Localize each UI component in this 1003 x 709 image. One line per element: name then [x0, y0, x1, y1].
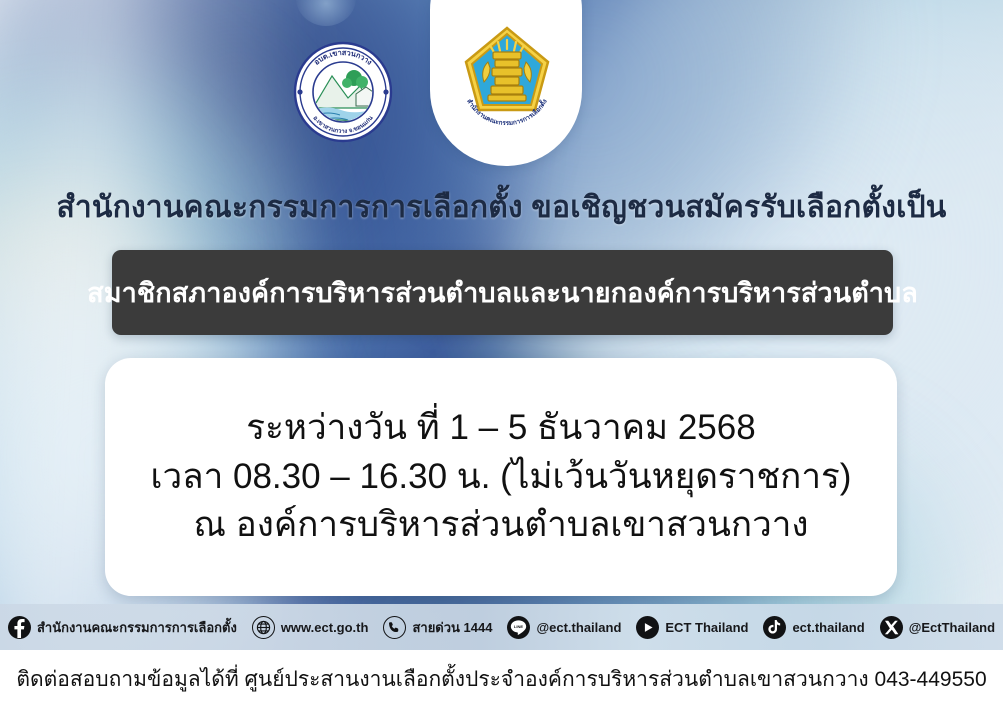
social-item-x[interactable]: @EctThailand: [880, 616, 995, 639]
youtube-icon: [636, 616, 659, 639]
facebook-icon: [8, 616, 31, 639]
poster-root: สำนักงานคณะกรรมการการเลือกตั้ง: [0, 0, 1003, 709]
detail-line-time: เวลา 08.30 – 16.30 น. (ไม่เว้นวันหยุดราช…: [151, 455, 852, 500]
social-label-tiktok: ect.thailand: [792, 620, 864, 635]
social-item-line[interactable]: LINE @ect.thailand: [507, 616, 621, 639]
social-item-hotline[interactable]: สายด่วน 1444: [383, 616, 492, 639]
globe-icon: [252, 616, 275, 639]
svg-text:LINE: LINE: [514, 623, 523, 628]
social-label-facebook: สำนักงานคณะกรรมการการเลือกตั้ง: [37, 617, 237, 638]
social-label-line: @ect.thailand: [536, 620, 621, 635]
social-label-website: www.ect.go.th: [281, 620, 369, 635]
social-item-youtube[interactable]: ECT Thailand: [636, 616, 748, 639]
social-item-tiktok[interactable]: ect.thailand: [763, 616, 864, 639]
page-title: สำนักงานคณะกรรมการการเลือกตั้ง ขอเชิญชวน…: [0, 184, 1003, 231]
contact-strip: ติดต่อสอบถามข้อมูลได้ที่ ศูนย์ประสานงานเ…: [0, 650, 1003, 709]
line-icon: LINE: [507, 616, 530, 639]
social-label-x: @EctThailand: [909, 620, 995, 635]
detail-line-date: ระหว่างวัน ที่ 1 – 5 ธันวาคม 2568: [246, 406, 755, 451]
local-org-seal-logo: อบต.เขาสวนกวาง อ.เขาสวนกวาง จ.ขอนแก่น: [288, 36, 398, 146]
tiktok-icon: [763, 616, 786, 639]
position-banner: สมาชิกสภาองค์การบริหารส่วนตำบลและนายกองค…: [112, 250, 893, 335]
x-twitter-icon: [880, 616, 903, 639]
phone-icon: [383, 616, 406, 639]
social-label-youtube: ECT Thailand: [665, 620, 748, 635]
position-banner-text: สมาชิกสภาองค์การบริหารส่วนตำบลและนายกองค…: [87, 271, 918, 314]
contact-info-text: ติดต่อสอบถามข้อมูลได้ที่ ศูนย์ประสานงานเ…: [16, 663, 986, 696]
detail-line-venue: ณ องค์การบริหารส่วนตำบลเขาสวนกวาง: [194, 503, 809, 548]
social-item-facebook[interactable]: สำนักงานคณะกรรมการการเลือกตั้ง: [8, 616, 237, 639]
social-links-bar: สำนักงานคณะกรรมการการเลือกตั้ง www.ect.g…: [0, 604, 1003, 650]
ect-emblem-logo: สำนักงานคณะกรรมการการเลือกตั้ง: [452, 22, 562, 132]
details-card: ระหว่างวัน ที่ 1 – 5 ธันวาคม 2568 เวลา 0…: [105, 358, 897, 596]
social-label-hotline: สายด่วน 1444: [412, 617, 492, 638]
social-item-website[interactable]: www.ect.go.th: [252, 616, 369, 639]
